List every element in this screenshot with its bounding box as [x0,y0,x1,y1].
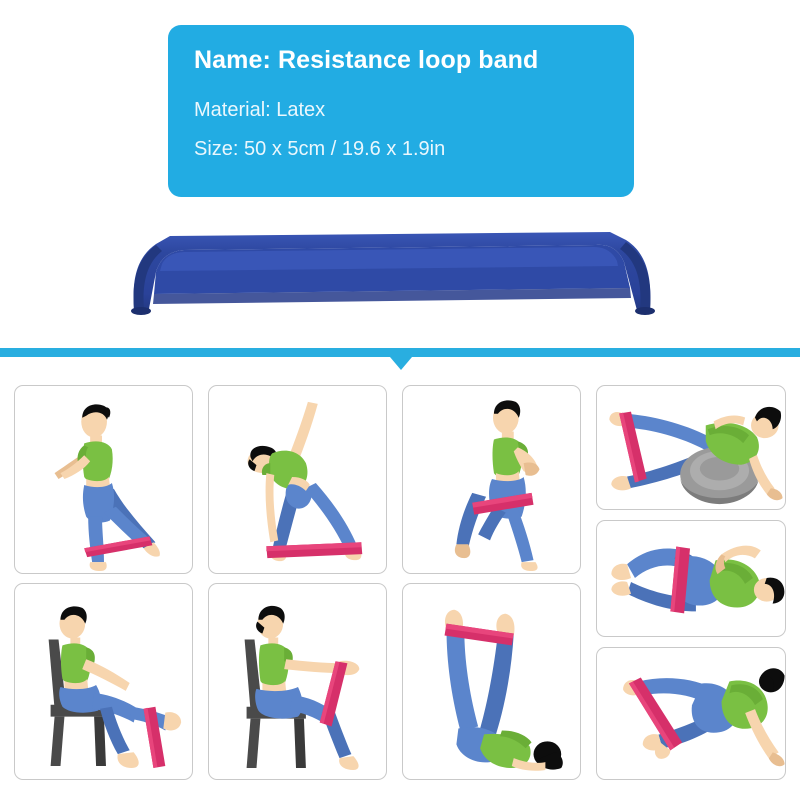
figure-lateral-squat [455,400,540,571]
figure-seated-arm-pull [245,606,360,770]
exercise-card-quadruped-leg-kickback[interactable] [596,647,786,780]
section-divider [0,348,800,370]
exercise-card-lateral-band-walk-squat[interactable] [402,385,581,574]
figure-clamshell [611,546,784,614]
exercise-card-side-lying-clamshell[interactable] [596,520,786,637]
exercise-card-standing-side-bend-triangle[interactable] [208,385,387,574]
figure-quadruped-kickback [623,668,785,766]
exercise-card-standing-leg-kickback[interactable] [14,385,193,574]
figure-seated-leg-extension [49,606,182,768]
product-band-photo [110,218,670,323]
product-material-line: Material: Latex [194,98,608,122]
product-infographic-page: Name: Resistance loop band Material: Lat… [0,0,800,800]
product-name-title: Name: Resistance loop band [194,47,608,75]
chevron-down-icon [390,357,412,370]
product-size-line: Size: 50 x 5cm / 19.6 x 1.9in [194,137,608,161]
exercise-card-side-lying-clam-on-ball[interactable] [596,385,786,510]
exercise-grid [0,378,800,788]
product-info-card: Name: Resistance loop band Material: Lat… [168,25,634,197]
band-edge-right [635,307,655,315]
divider-bar [0,348,800,357]
figure-side-lying-ball [609,407,782,504]
band-edge-left [131,307,151,315]
exercise-card-seated-arm-row-pull[interactable] [208,583,387,780]
exercise-card-seated-leg-extension[interactable] [14,583,193,780]
exercise-card-supine-leg-abduction[interactable] [402,583,581,780]
figure-standing-kickback [55,404,160,571]
figure-supine-abduction [445,610,563,771]
figure-triangle-bend [248,402,363,561]
